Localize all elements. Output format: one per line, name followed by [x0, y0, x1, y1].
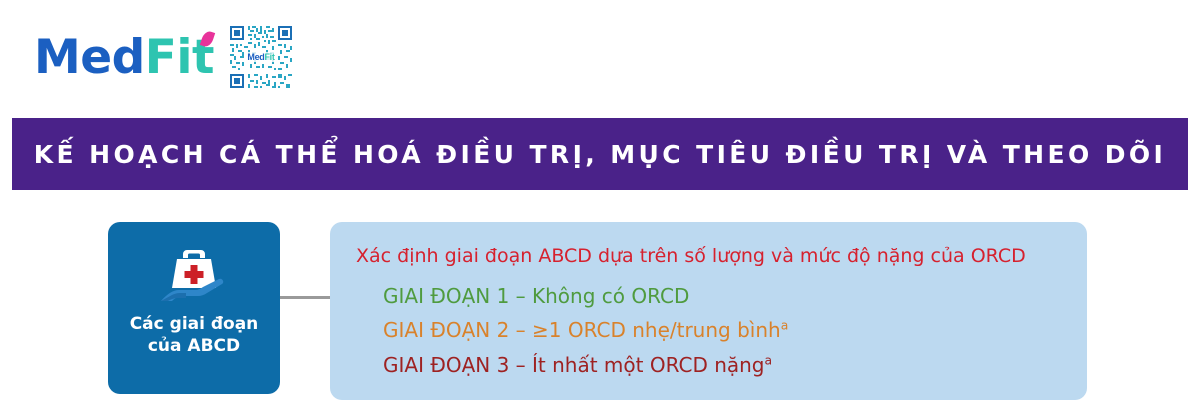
stage-item-1: GIAI ĐOẠN 1 – Không có ORCD [383, 279, 1067, 314]
abcd-stages-node[interactable]: Các giai đoạn của ABCD [108, 222, 280, 394]
qr-label-fit: Fit [264, 52, 274, 62]
node-label-line-1: Các giai đoạn [130, 314, 259, 336]
stage-item-2: GIAI ĐOẠN 2 – ≥1 ORCD nhẹ/trung bìnha [383, 313, 1067, 348]
connector-line [280, 296, 332, 299]
page-title: KẾ HOẠCH CÁ THỂ HOÁ ĐIỀU TRỊ, MỤC TIÊU Đ… [34, 140, 1166, 169]
stage-3-text: GIAI ĐOẠN 3 – Ít nhất một ORCD nặng [383, 353, 765, 377]
brand-logo-area: MedFit [34, 18, 294, 96]
stage-3-superscript: a [765, 352, 773, 367]
node-label-line-2: của ABCD [130, 336, 259, 358]
qr-code-icon[interactable]: MedFit [228, 24, 294, 90]
stage-2-superscript: a [781, 318, 789, 333]
qr-label-med: Med [247, 52, 264, 62]
abcd-stages-diagram: Các giai đoạn của ABCD Xác định giai đoạ… [0, 216, 1200, 416]
medical-bag-on-hand-icon [157, 244, 231, 306]
criteria-headline: Xác định giai đoạn ABCD dựa trên số lượn… [356, 245, 1067, 268]
wordmark-med: Med [34, 30, 145, 85]
stage-2-text: GIAI ĐOẠN 2 – ≥1 ORCD nhẹ/trung bình [383, 318, 781, 342]
medfit-wordmark: MedFit [34, 34, 214, 81]
abcd-stages-node-label: Các giai đoạn của ABCD [130, 314, 259, 358]
page-title-banner: KẾ HOẠCH CÁ THỂ HOÁ ĐIỀU TRỊ, MỤC TIÊU Đ… [12, 118, 1188, 190]
qr-center-label: MedFit [246, 52, 275, 62]
stage-1-text: GIAI ĐOẠN 1 – Không có ORCD [383, 284, 689, 308]
stage-list: GIAI ĐOẠN 1 – Không có ORCD GIAI ĐOẠN 2 … [356, 279, 1067, 383]
stage-item-3: GIAI ĐOẠN 3 – Ít nhất một ORCD nặnga [383, 348, 1067, 383]
abcd-criteria-panel: Xác định giai đoạn ABCD dựa trên số lượn… [330, 222, 1087, 400]
